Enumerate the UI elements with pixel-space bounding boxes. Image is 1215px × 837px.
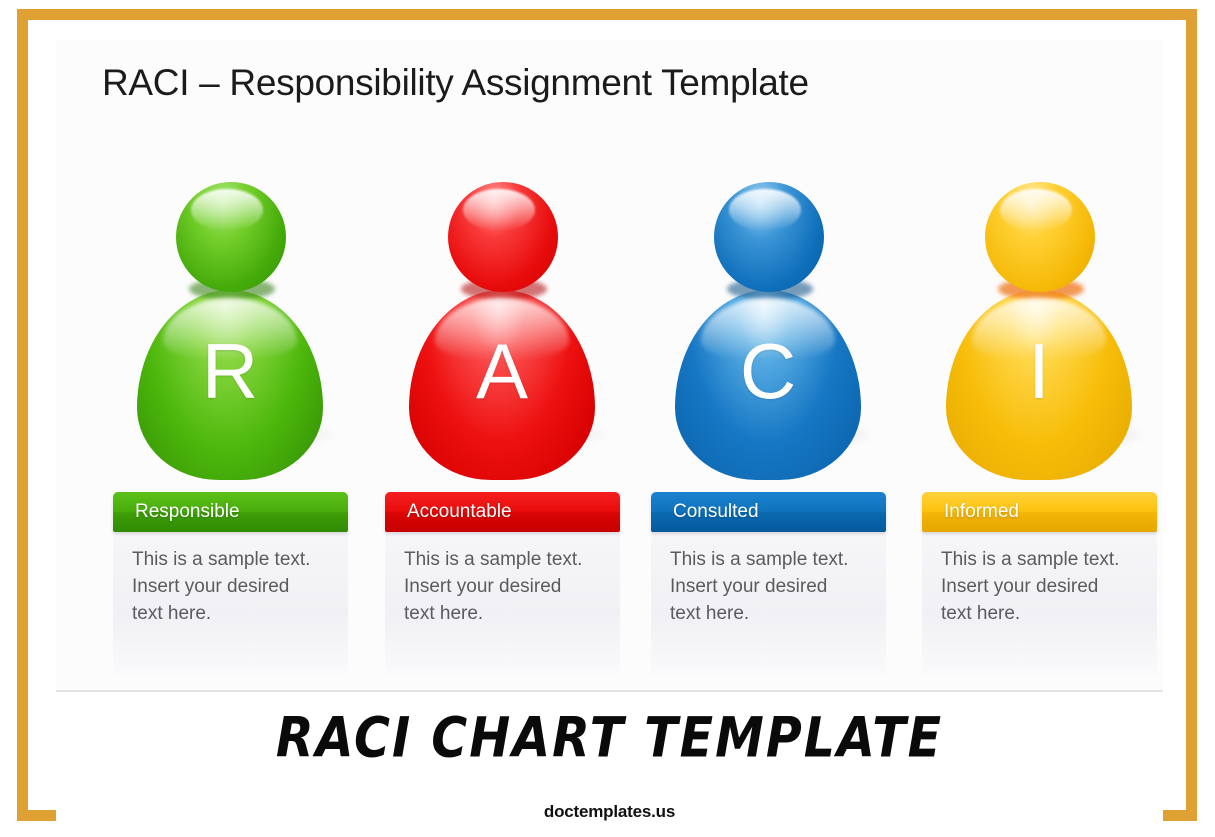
role-description-text: This is a sample text. Insert your desir… <box>132 546 317 627</box>
role-label-bar[interactable]: Consulted <box>651 492 886 532</box>
role-label-text: Responsible <box>135 492 338 532</box>
figure-head-gloss <box>1000 189 1072 231</box>
role-label-bar[interactable]: Informed <box>922 492 1157 532</box>
raci-column-responsible[interactable]: R Responsible This is a sample text. Ins… <box>113 170 348 680</box>
figure-head-gloss <box>463 189 535 231</box>
role-label-text: Informed <box>944 492 1147 532</box>
raci-column-consulted[interactable]: C Consulted This is a sample text. Inser… <box>651 170 886 680</box>
figure-letter: A <box>409 332 595 410</box>
figure-letter: C <box>675 332 861 410</box>
page-root: RACI – Responsibility Assignment Templat… <box>0 0 1215 837</box>
role-label-text: Consulted <box>673 492 876 532</box>
figure-head-gloss <box>729 189 801 231</box>
role-description-text: This is a sample text. Insert your desir… <box>941 546 1126 627</box>
raci-column-accountable[interactable]: A Accountable This is a sample text. Ins… <box>385 170 620 680</box>
person-figure-accountable: A <box>385 182 620 482</box>
source-url: doctemplates.us <box>56 802 1163 822</box>
role-label-text: Accountable <box>407 492 610 532</box>
page-title: RACI – Responsibility Assignment Templat… <box>102 62 809 104</box>
figure-letter: I <box>946 332 1132 410</box>
raci-columns: R Responsible This is a sample text. Ins… <box>113 170 1163 680</box>
raci-column-informed[interactable]: I Informed This is a sample text. Insert… <box>922 170 1157 680</box>
slide-canvas: RACI – Responsibility Assignment Templat… <box>56 40 1163 692</box>
person-figure-responsible: R <box>113 182 348 482</box>
role-label-bar[interactable]: Accountable <box>385 492 620 532</box>
person-figure-consulted: C <box>651 182 886 482</box>
caption-area: RACI CHART TEMPLATE doctemplates.us <box>56 694 1163 830</box>
gold-border-frame: RACI – Responsibility Assignment Templat… <box>17 9 1197 821</box>
figure-head-gloss <box>191 189 263 231</box>
role-label-bar[interactable]: Responsible <box>113 492 348 532</box>
person-figure-informed: I <box>922 182 1157 482</box>
figure-letter: R <box>137 332 323 410</box>
role-description-text: This is a sample text. Insert your desir… <box>404 546 589 627</box>
caption-title: RACI CHART TEMPLATE <box>56 706 1163 770</box>
role-description-text: This is a sample text. Insert your desir… <box>670 546 855 627</box>
